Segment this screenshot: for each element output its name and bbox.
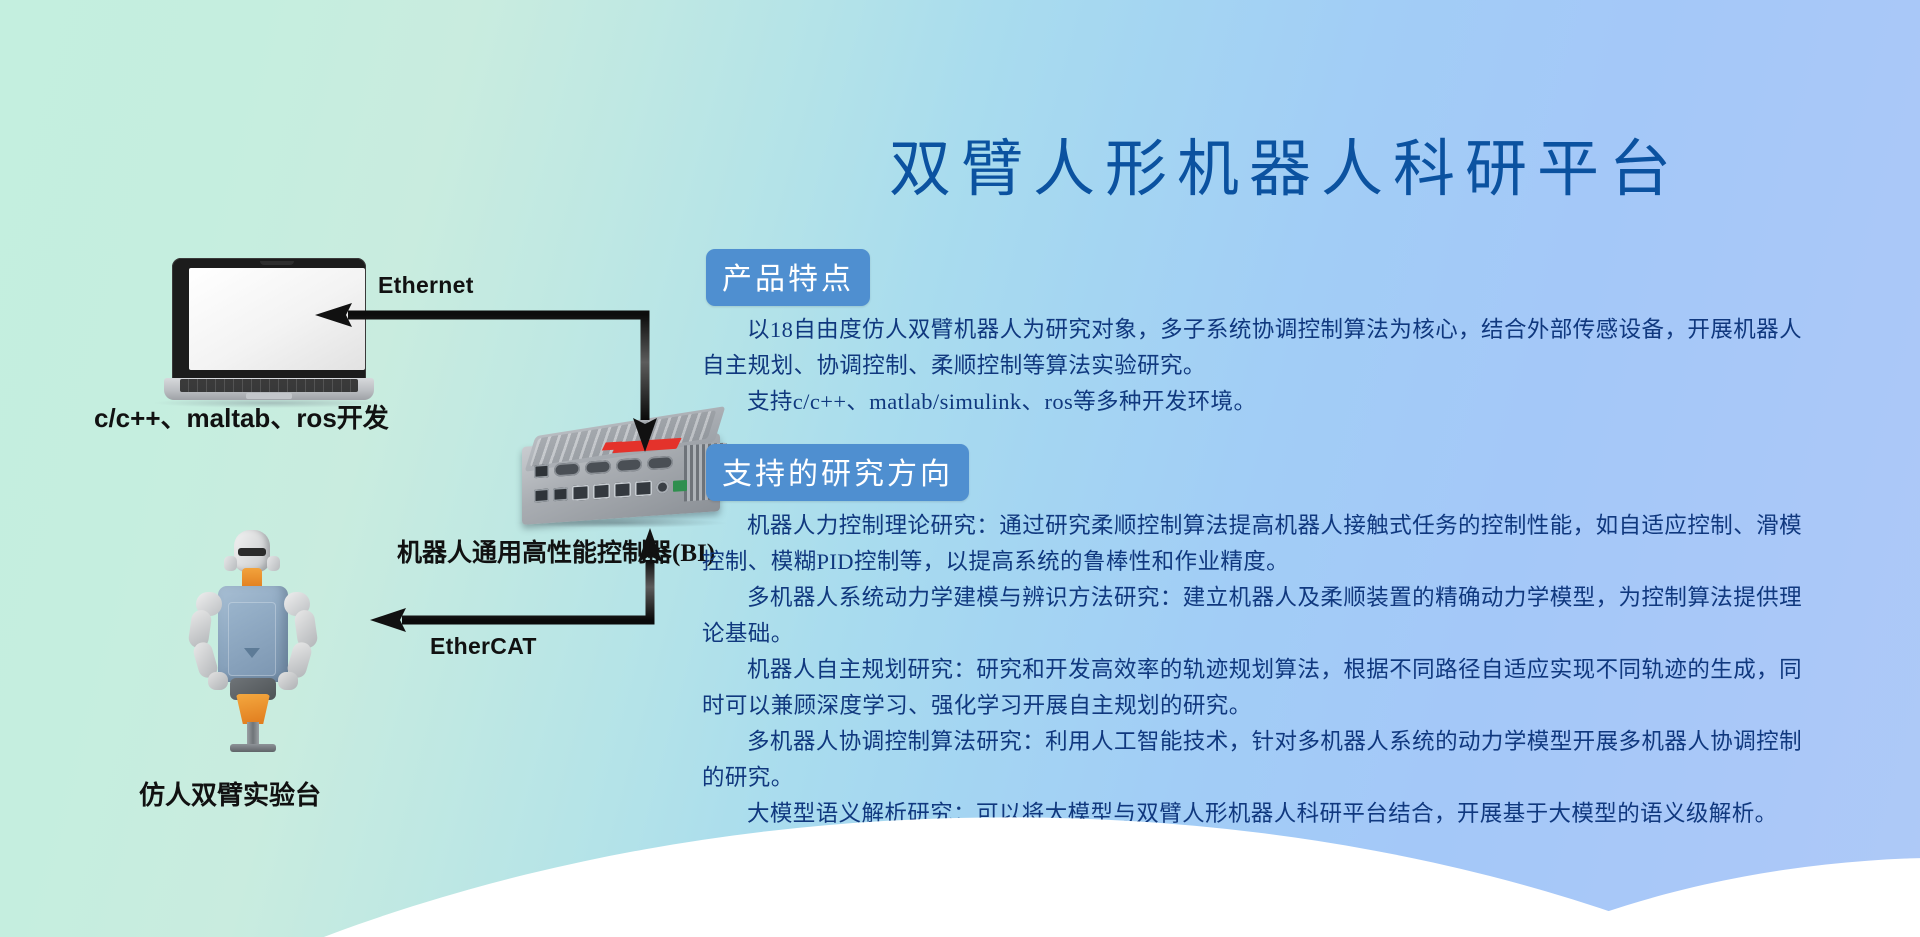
direction-paragraph: 多机器人系统动力学建模与辨识方法研究：建立机器人及柔顺装置的精确动力学模型，为控… <box>702 580 1802 652</box>
robot-stand-base <box>230 744 276 752</box>
system-diagram: Ethernet EtherCAT c/c++、maltab、ros开发 机器人… <box>0 0 700 937</box>
ethercat-label: EtherCAT <box>430 633 537 660</box>
directions-text: 机器人力控制理论研究：通过研究柔顺控制算法提高机器人接触式任务的控制性能，如自适… <box>702 508 1802 832</box>
ethernet-port-icon <box>635 480 652 496</box>
robot-hand-left <box>208 672 228 690</box>
db9-serial-port-icon <box>647 456 673 471</box>
usb-port-icon <box>534 464 549 478</box>
ethercat-link-line <box>402 560 650 620</box>
laptop-keyboard <box>180 379 358 392</box>
page-title: 双臂人形机器人科研平台 <box>690 118 1880 208</box>
ethercat-arrowhead <box>370 608 406 632</box>
features-paragraph: 以18自由度仿人双臂机器人为研究对象，多子系统协调控制算法为核心，结合外部传感设… <box>702 312 1802 384</box>
ethernet-port-icon <box>614 481 631 497</box>
laptop-notch <box>260 261 294 265</box>
db9-serial-port-icon <box>616 458 642 473</box>
features-paragraph: 支持c/c++、matlab/simulink、ros等多种开发环境。 <box>702 384 1802 420</box>
usb-port-icon <box>553 487 568 501</box>
robot-chest-plate <box>228 602 276 676</box>
db9-serial-port-icon <box>554 462 580 477</box>
terminal-block-icon <box>673 479 687 491</box>
direction-paragraph: 机器人力控制理论研究：通过研究柔顺控制算法提高机器人接触式任务的控制性能，如自适… <box>702 508 1802 580</box>
power-connector-icon <box>656 480 669 494</box>
robot-caption: 仿人双臂实验台 <box>139 775 321 812</box>
features-text: 以18自由度仿人双臂机器人为研究对象，多子系统协调控制算法为核心，结合外部传感设… <box>702 312 1802 420</box>
humanoid-robot-illustration <box>178 530 328 748</box>
robot-ear-left <box>224 556 237 571</box>
features-badge: 产品特点 <box>706 249 870 306</box>
poster-canvas: Ethernet EtherCAT c/c++、maltab、ros开发 机器人… <box>0 0 1920 937</box>
direction-paragraph: 机器人自主规划研究：研究和开发高效率的轨迹规划算法，根据不同路径自适应实现不同轨… <box>702 652 1802 724</box>
laptop-lid <box>172 258 366 380</box>
controller-caption: 机器人通用高性能控制器(BI) <box>397 533 715 569</box>
db9-serial-port-icon <box>585 460 611 475</box>
robot-hand-right <box>278 672 298 690</box>
ethernet-label: Ethernet <box>378 272 474 299</box>
content-panel: 双臂人形机器人科研平台 产品特点 以18自由度仿人双臂机器人为研究对象，多子系统… <box>690 0 1920 937</box>
directions-badge-wrap: 支持的研究方向 <box>706 444 969 501</box>
robot-visor <box>238 548 266 556</box>
ethernet-link-line <box>348 315 645 420</box>
robot-hip-base <box>236 694 270 724</box>
laptop-illustration <box>164 258 374 408</box>
directions-badge: 支持的研究方向 <box>706 444 969 501</box>
robot-ear-right <box>267 556 280 571</box>
usb-port-icon <box>534 488 549 502</box>
direction-paragraph: 多机器人协调控制算法研究：利用人工智能技术，针对多机器人系统的动力学模型开展多机… <box>702 724 1802 796</box>
features-badge-wrap: 产品特点 <box>706 249 870 306</box>
laptop-screen <box>189 268 365 370</box>
ethernet-port-icon <box>572 484 589 500</box>
ethernet-port-icon <box>593 483 610 499</box>
laptop-caption: c/c++、maltab、ros开发 <box>94 398 389 435</box>
